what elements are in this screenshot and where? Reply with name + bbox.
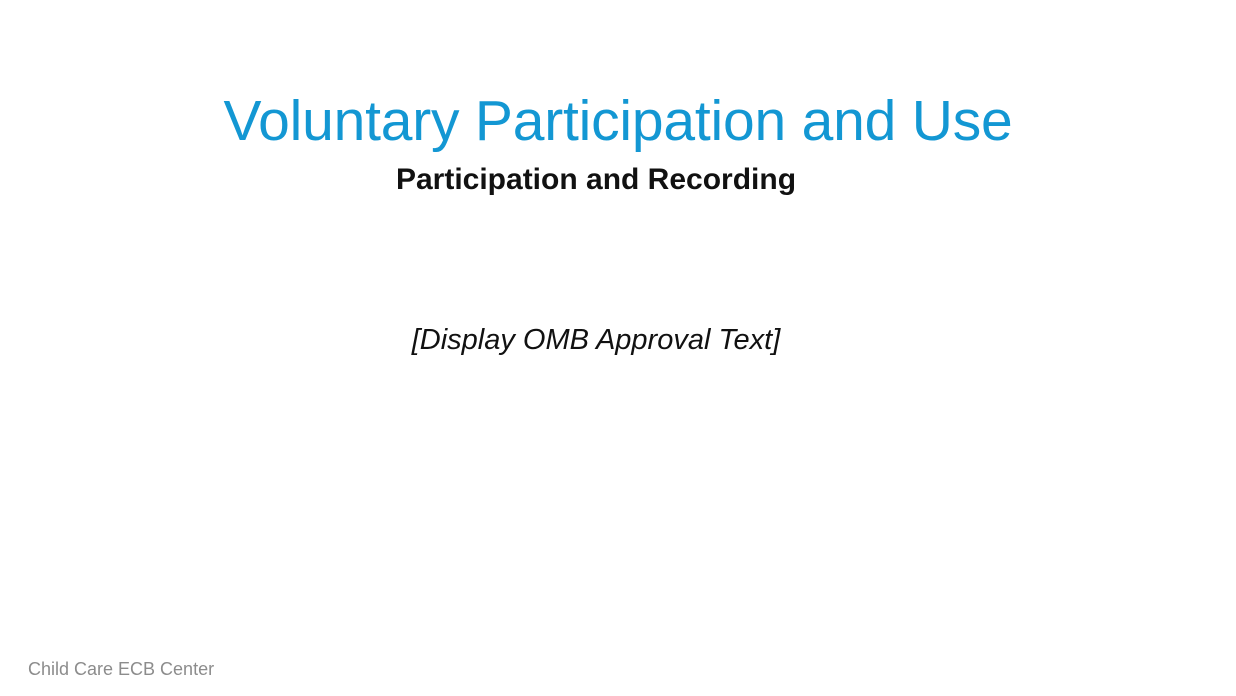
omb-approval-placeholder-text: [Display OMB Approval Text]	[412, 322, 781, 360]
slide-body-block: [Display OMB Approval Text]	[0, 322, 1192, 360]
slide-canvas: Voluntary Participation and Use Particip…	[0, 0, 1236, 696]
slide-subtitle: Participation and Recording	[0, 161, 1192, 199]
slide-footer: Child Care ECB Center	[28, 659, 214, 681]
page-title: Voluntary Participation and Use	[0, 90, 1236, 154]
